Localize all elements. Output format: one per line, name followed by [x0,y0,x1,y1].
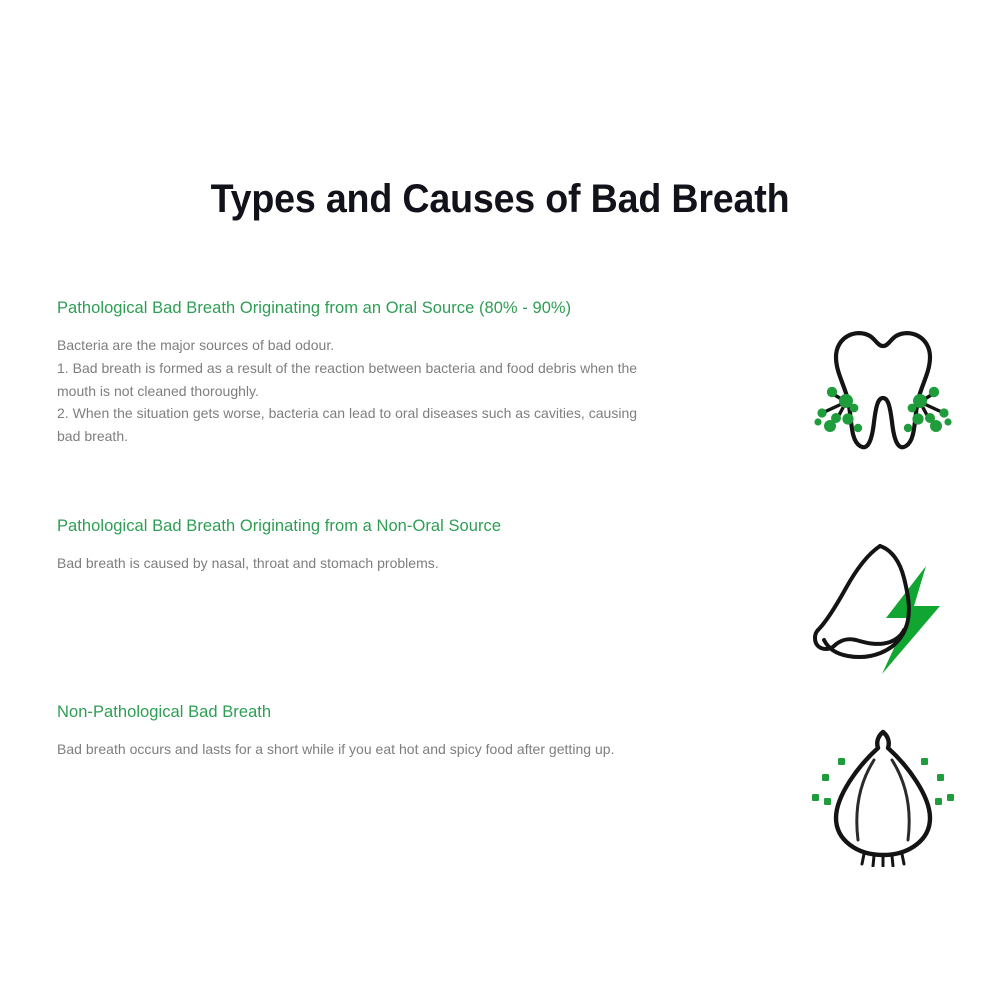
section-text-block: Pathological Bad Breath Originating from… [57,514,647,575]
tooth-bacteria-icon [808,322,958,467]
sections-list: Pathological Bad Breath Originating from… [0,296,1000,842]
section-non-oral-source: Pathological Bad Breath Originating from… [0,478,1000,660]
section-oral-source: Pathological Bad Breath Originating from… [0,296,1000,478]
section-non-pathological: Non-Pathological Bad Breath Bad breath o… [0,660,1000,842]
section-heading: Pathological Bad Breath Originating from… [57,514,647,538]
infographic-page: Types and Causes of Bad Breath Pathologi… [0,0,1000,1001]
section-body: Bad breath occurs and lasts for a short … [57,738,647,761]
garlic-bulb-icon [808,722,958,867]
section-text-block: Non-Pathological Bad Breath Bad breath o… [57,700,647,761]
section-body: Bacteria are the major sources of bad od… [57,334,647,447]
page-title: Types and Causes of Bad Breath [30,177,970,222]
section-text-block: Pathological Bad Breath Originating from… [57,296,647,448]
section-heading: Pathological Bad Breath Originating from… [57,296,647,320]
section-heading: Non-Pathological Bad Breath [57,700,647,724]
section-body: Bad breath is caused by nasal, throat an… [57,552,647,575]
